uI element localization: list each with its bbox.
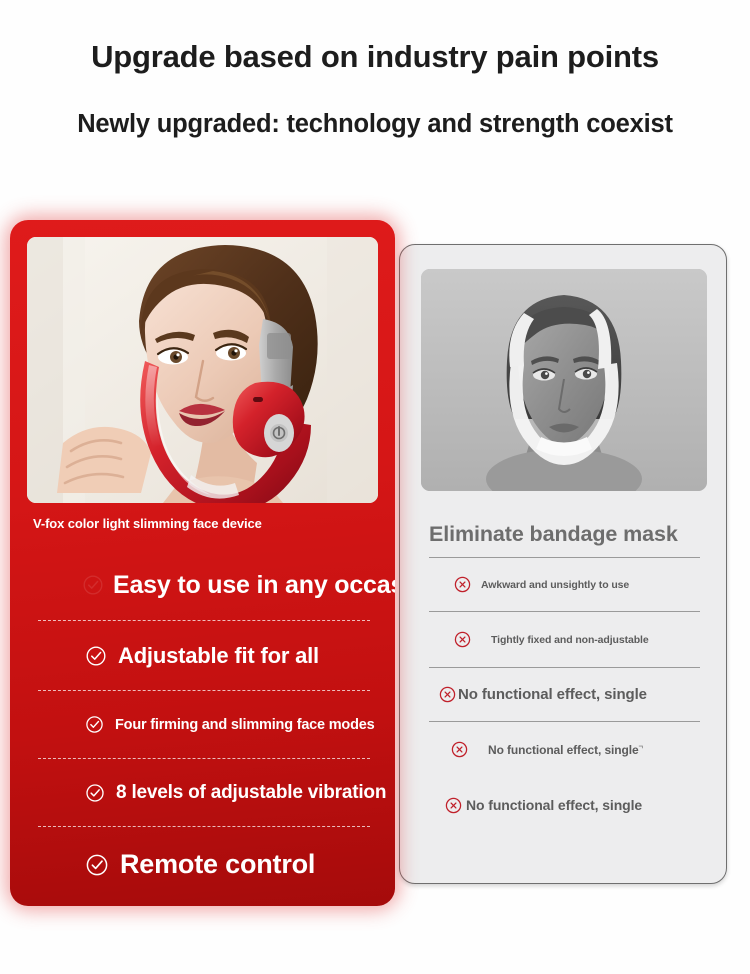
comparison-card-title: Eliminate bandage mask [429, 522, 709, 547]
x-circle-icon [451, 741, 468, 758]
drawback-label: No functional effect, single [466, 797, 642, 813]
drawback-row: Awkward and unsightly to use [429, 557, 700, 611]
drawback-row: No functional effect, single [429, 777, 700, 833]
check-circle-icon [85, 853, 109, 877]
feature-row: Adjustable fit for all [38, 620, 370, 690]
check-circle-icon [85, 645, 107, 667]
drawback-suffix-mark: ¬ [639, 742, 644, 751]
product-photo [27, 237, 378, 503]
comparison-card-bandage-mask: Eliminate bandage mask Awkward and unsig… [399, 244, 727, 884]
x-circle-icon [454, 631, 471, 648]
drawback-label: Awkward and unsightly to use [481, 579, 629, 591]
x-circle-icon [439, 686, 456, 703]
drawback-row: No functional effect, single¬ [429, 721, 700, 777]
check-circle-icon [85, 783, 105, 803]
product-card-title: V-fox color light slimming face device [33, 516, 262, 531]
check-circle-icon [85, 715, 104, 734]
x-circle-icon [445, 797, 462, 814]
product-card-vfox: V-fox color light slimming face device E… [10, 220, 395, 906]
drawback-label: No functional effect, single [458, 686, 647, 703]
bandage-mask-photo [421, 269, 707, 491]
drawbacks-list: Awkward and unsightly to use Tightly fix… [429, 557, 700, 833]
feature-row: Four firming and slimming face modes [38, 690, 370, 758]
drawback-label: Tightly fixed and non-adjustable [491, 634, 649, 646]
feature-label: Four firming and slimming face modes [115, 717, 374, 733]
drawback-label: No functional effect, single¬ [488, 742, 643, 757]
feature-label: Adjustable fit for all [118, 643, 319, 669]
feature-label: 8 levels of adjustable vibration [116, 782, 386, 804]
feature-label: Remote control [120, 849, 315, 880]
feature-row: 8 levels of adjustable vibration [38, 758, 370, 826]
comparison-cards-area: Eliminate bandage mask Awkward and unsig… [0, 0, 750, 974]
drawback-row: Tightly fixed and non-adjustable [429, 611, 700, 667]
feature-row: Easy to use in any occasion [38, 550, 370, 620]
feature-row: Remote control [38, 826, 370, 902]
check-circle-icon [82, 574, 104, 596]
features-list: Easy to use in any occasion Adjustable f… [38, 550, 370, 902]
feature-label: Easy to use in any occasion [113, 571, 395, 600]
x-circle-icon [454, 576, 471, 593]
drawback-row: No functional effect, single [429, 667, 700, 721]
